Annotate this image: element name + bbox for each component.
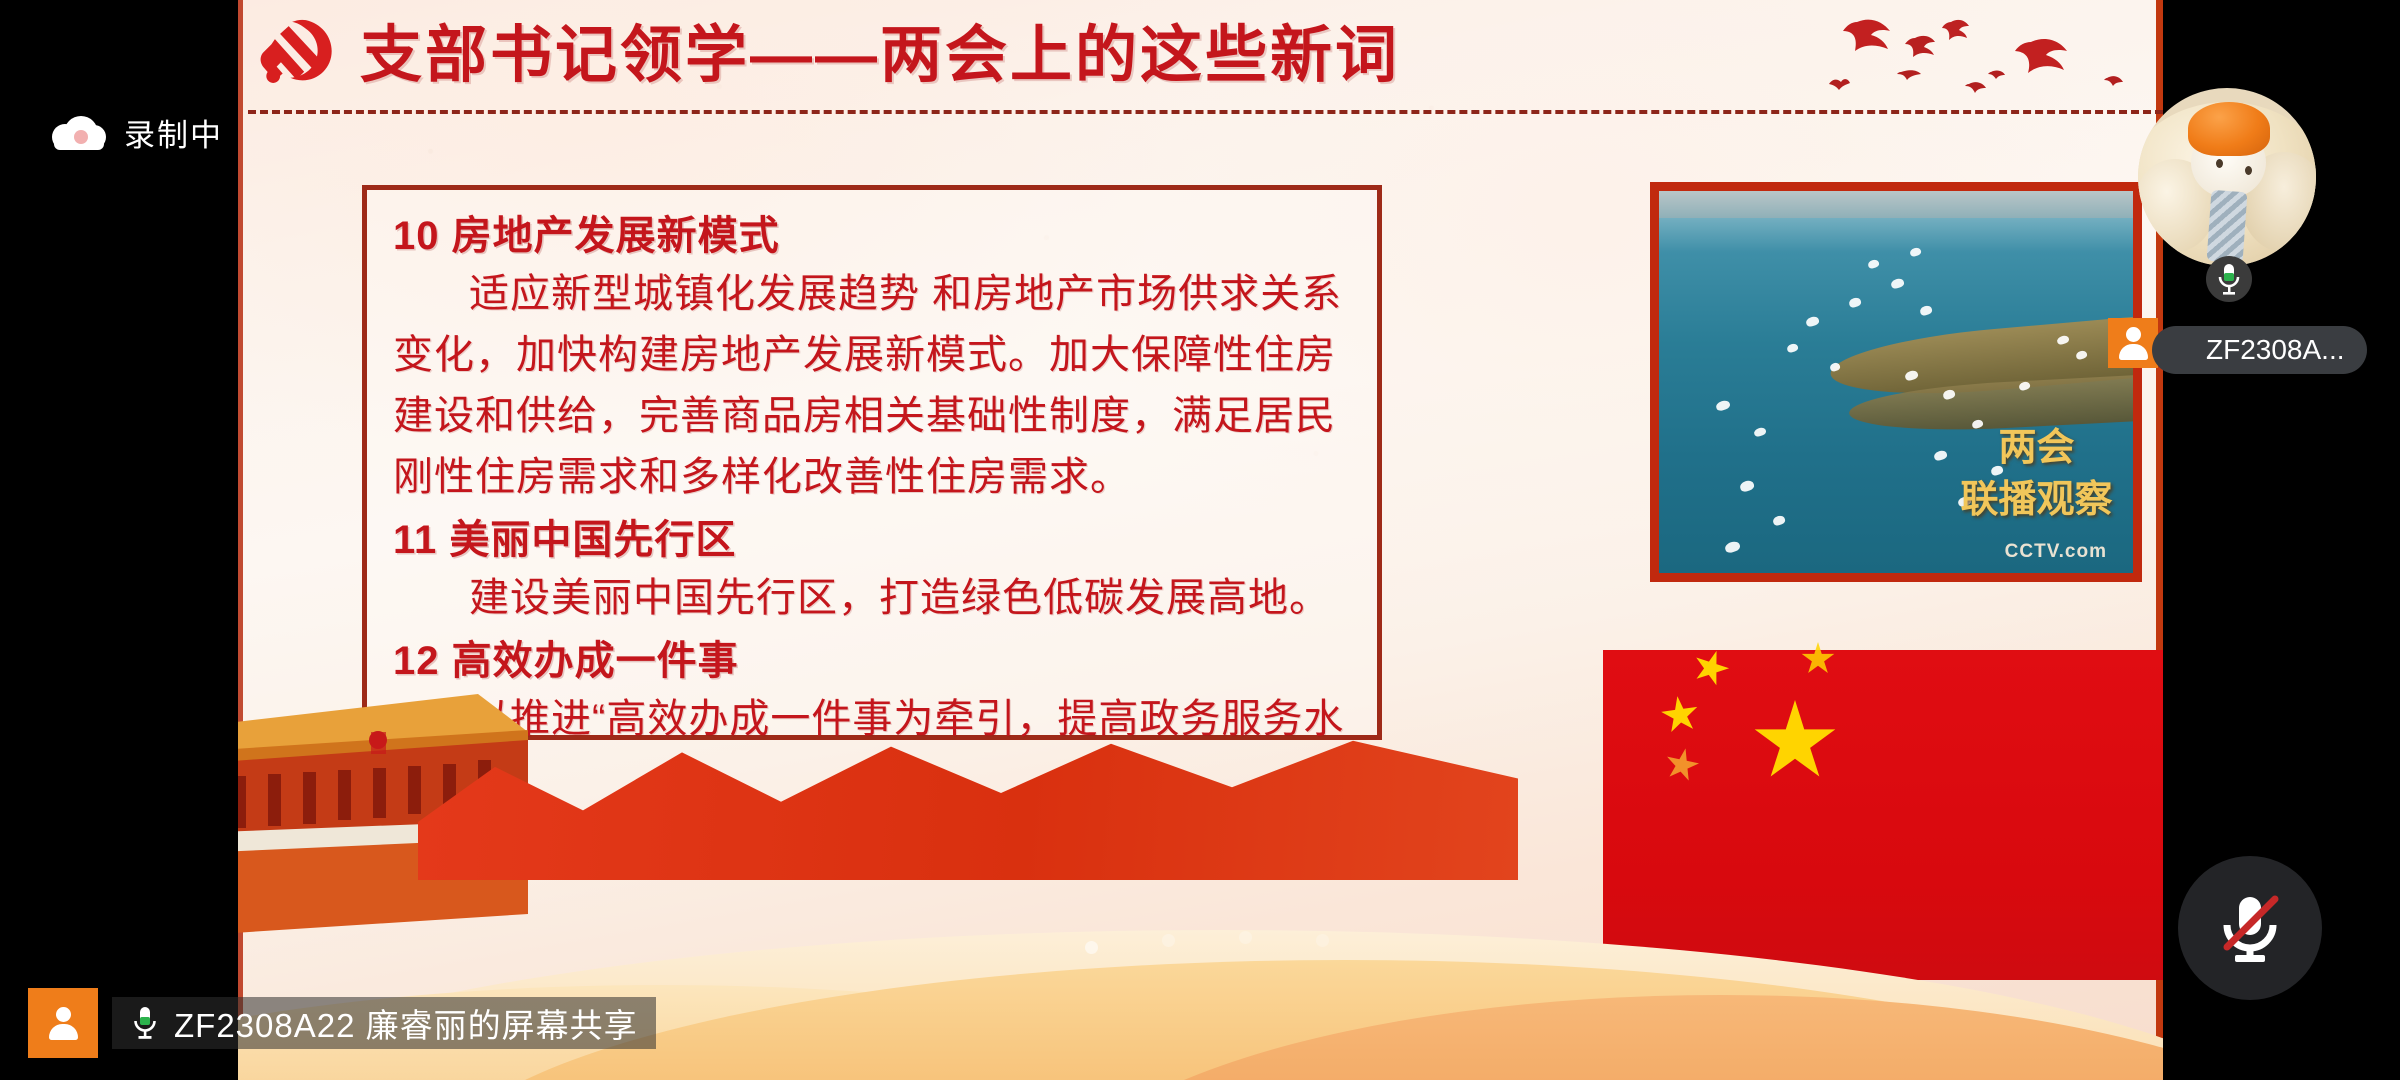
header-divider (248, 110, 2163, 114)
share-status-label: ZF2308A22 廉睿丽的屏幕共享 (174, 999, 638, 1047)
watermark-line-1: 两会 (1954, 421, 2119, 473)
recording-indicator: 录制中 (52, 110, 223, 155)
page-title: 支部书记领学——两会上的这些新词 (360, 12, 1400, 100)
microphone-muted-icon (2213, 887, 2287, 969)
section-body: 建设美丽中国先行区，打造绿色低碳发展高地。 (393, 568, 1351, 629)
user-avatar-icon (46, 1006, 80, 1040)
recording-label: 录制中 (124, 110, 223, 155)
slide-header: 支部书记领学——两会上的这些新词 (238, 0, 2163, 118)
self-view-avatar-badge (2108, 318, 2158, 368)
section-heading: 12 高效办成一件事 (393, 633, 1351, 689)
screen-share-status-bar: ZF2308A22 廉睿丽的屏幕共享 (28, 988, 656, 1058)
user-avatar-icon (2116, 326, 2150, 360)
section-heading: 11 美丽中国先行区 (393, 512, 1351, 568)
cpc-party-emblem-icon (256, 14, 342, 102)
share-status: ZF2308A22 廉睿丽的屏幕共享 (112, 997, 656, 1049)
slide-text-panel: 10 房地产发展新模式 适应新型城镇化发展趋势 和房地产市场供求关系变化，加快构… (362, 185, 1382, 740)
video-watermark: 两会 联播观察 (1954, 421, 2119, 529)
section-body: 适应新型城镇化发展趋势 和房地产市场供求关系变化，加快构建房地产发展新模式。加大… (393, 264, 1351, 508)
self-view-name-label: ZF2308A... (2152, 326, 2367, 374)
watermark-line-2: 联播观察 (1954, 473, 2119, 525)
mute-button[interactable] (2178, 856, 2322, 1000)
self-view-avatar[interactable] (2138, 88, 2316, 266)
section-heading: 10 房地产发展新模式 (393, 208, 1351, 264)
cloud-record-icon (52, 116, 106, 150)
shared-screen-slide: 支部书记领学——两会上的这些新词 10 房地产发展新模式 适应新型城镇化发展趋势… (238, 0, 2163, 1080)
flying-doves-icon (1809, 2, 2139, 102)
self-view-mic-icon (2206, 256, 2252, 302)
microphone-active-icon (132, 1005, 158, 1041)
meeting-screen: 录制中 支部书记领学——两会上的这些新词 (0, 0, 2400, 1080)
slide-video-frame: 两会 联播观察 CCTV.com (1650, 182, 2142, 582)
share-avatar-badge (28, 988, 98, 1058)
cctv-logo: CCTV.com (2005, 541, 2107, 563)
